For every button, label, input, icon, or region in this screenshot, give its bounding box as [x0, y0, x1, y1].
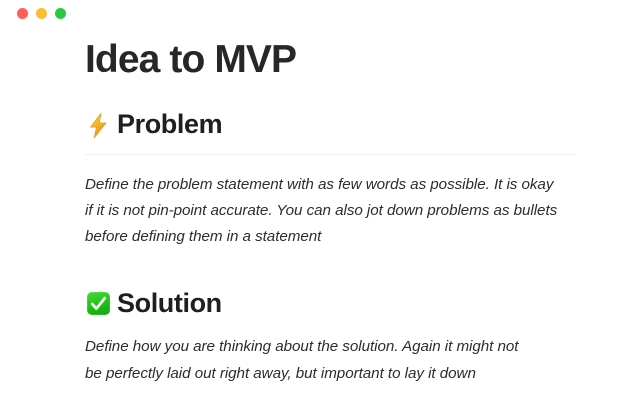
section-heading-solution-label: Solution [117, 287, 222, 320]
maximize-window-button[interactable] [55, 8, 66, 19]
section-heading-problem-label: Problem [117, 108, 222, 141]
traffic-light-controls [0, 8, 66, 19]
white-check-mark-icon [85, 290, 112, 317]
section-body-solution[interactable]: Define how you are thinking about the so… [85, 319, 537, 387]
section-heading-problem[interactable]: Problem [85, 108, 575, 141]
section-solution: Solution Define how you are thinking abo… [85, 287, 575, 388]
minimize-window-button[interactable] [36, 8, 47, 19]
close-window-button[interactable] [17, 8, 28, 19]
high-voltage-icon [85, 112, 112, 139]
page-title[interactable]: Idea to MVP [85, 26, 575, 82]
document-body: Idea to MVP Pr [85, 26, 575, 387]
window-titlebar [0, 0, 640, 26]
section-heading-solution[interactable]: Solution [85, 287, 575, 320]
app-window: Idea to MVP Pr [0, 0, 640, 400]
section-problem: Problem Define the problem statement wit… [85, 108, 575, 251]
section-body-problem[interactable]: Define the problem statement with as few… [85, 155, 559, 251]
